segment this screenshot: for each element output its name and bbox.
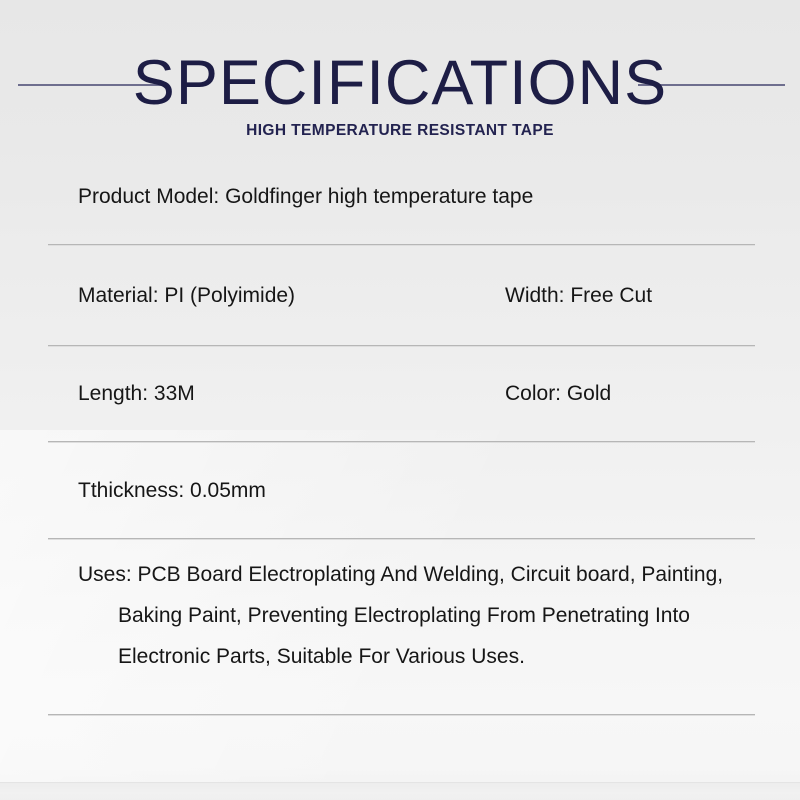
specification-sheet: SPECIFICATIONS HIGH TEMPERATURE RESISTAN…	[0, 0, 800, 800]
page-title: SPECIFICATIONS	[0, 48, 800, 118]
spec-color: Color: Gold	[505, 379, 752, 409]
table-row: Product Model: Goldfinger high temperatu…	[0, 150, 800, 246]
row-separator	[48, 714, 755, 716]
spec-length: Length: 33M	[78, 379, 505, 409]
table-row: Length: 33M Color: Gold	[0, 347, 800, 443]
spec-product-model: Product Model: Goldfinger high temperatu…	[78, 182, 533, 212]
specifications-table: Product Model: Goldfinger high temperatu…	[0, 150, 800, 716]
spec-width: Width: Free Cut	[505, 281, 752, 311]
page-subtitle: HIGH TEMPERATURE RESISTANT TAPE	[0, 121, 800, 141]
table-row-uses: Uses: PCB Board Electroplating And Weldi…	[0, 540, 800, 716]
footer-band	[0, 782, 800, 800]
spec-material: Material: PI (Polyimide)	[78, 281, 505, 311]
spec-uses: Uses: PCB Board Electroplating And Weldi…	[78, 554, 740, 677]
sheet-header: SPECIFICATIONS HIGH TEMPERATURE RESISTAN…	[0, 0, 800, 150]
table-row: Material: PI (Polyimide) Width: Free Cut	[0, 246, 800, 347]
spec-thickness: Tthickness: 0.05mm	[78, 476, 505, 506]
table-row: Tthickness: 0.05mm	[0, 443, 800, 540]
